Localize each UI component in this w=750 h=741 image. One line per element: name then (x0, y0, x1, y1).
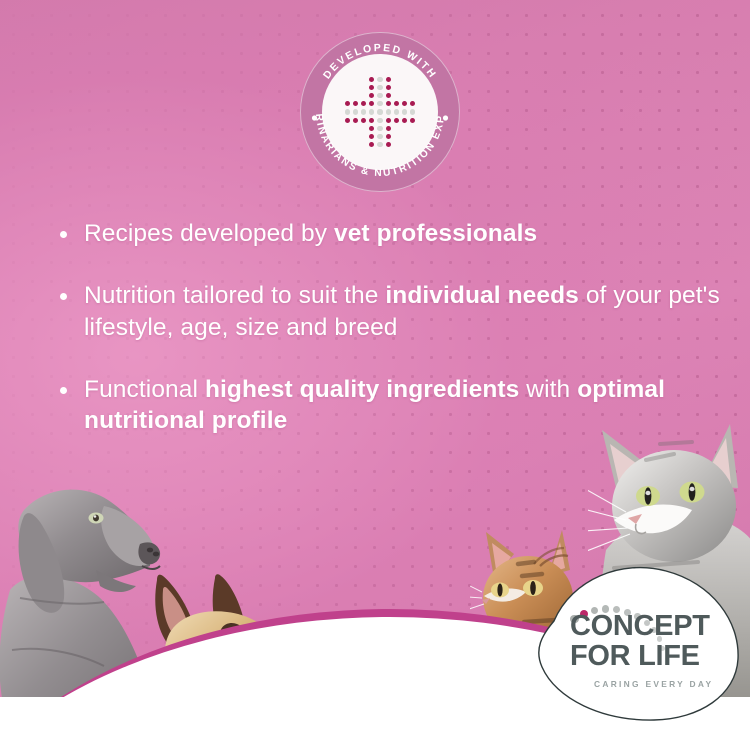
cross-dot (353, 101, 358, 106)
cross-dot (386, 85, 391, 90)
list-item: Nutrition tailored to suit the individua… (60, 280, 720, 344)
cross-dot (369, 77, 374, 82)
cross-dot (377, 142, 382, 147)
cross-dot (369, 134, 374, 139)
concept-for-life-logo[interactable]: CONCEPT FOR LIFE CARING EVERY DAY (516, 563, 742, 723)
cross-dot (377, 109, 382, 114)
cross-dot (345, 109, 350, 114)
cross-dot (361, 101, 366, 106)
bullet-plain: Recipes developed by (84, 220, 334, 247)
cross-dot (377, 93, 382, 98)
cross-dot (377, 134, 382, 139)
bullet-dot-icon (60, 293, 67, 300)
cross-dot (369, 142, 374, 147)
bullet-emphasis: vet professionals (334, 220, 537, 247)
cross-dot (369, 85, 374, 90)
cross-dot (369, 93, 374, 98)
cross-dot (369, 101, 374, 106)
bullet-plain: with (519, 376, 577, 403)
cross-dot (402, 118, 407, 123)
logo-wordmark: CONCEPT FOR LIFE CARING EVERY DAY (570, 611, 740, 689)
developed-with-vets-seal: DEVELOPED WITH VETERINARIANS & NUTRITION… (300, 32, 460, 192)
bullet-emphasis: highest quality ingredients (205, 376, 519, 403)
cross-dot (353, 118, 358, 123)
cross-dot (377, 77, 382, 82)
cross-dot (377, 101, 382, 106)
logo-line-1: CONCEPT (570, 611, 740, 641)
logo-line-2: FOR LIFE (570, 641, 740, 671)
bullet-emphasis: individual needs (385, 282, 579, 309)
seal-bullet-right-icon (443, 115, 448, 120)
cross-dot (386, 77, 391, 82)
cross-dot (377, 126, 382, 131)
seal-bullet-left-icon (312, 115, 317, 120)
cross-dot (410, 109, 415, 114)
cross-dot (386, 142, 391, 147)
cross-dot (402, 109, 407, 114)
cross-dot (369, 109, 374, 114)
cross-dot (386, 118, 391, 123)
cross-dot (361, 109, 366, 114)
bullet-text-2: Nutrition tailored to suit the individua… (84, 280, 720, 344)
cross-dot (369, 118, 374, 123)
cross-dot (353, 109, 358, 114)
logo-tagline: CARING EVERY DAY (594, 679, 740, 689)
cross-dot (386, 109, 391, 114)
cross-dot (386, 126, 391, 131)
bullet-plain: Nutrition tailored to suit the (84, 282, 385, 309)
bullet-plain: Functional (84, 376, 205, 403)
cross-dot (377, 118, 382, 123)
cross-dot (394, 101, 399, 106)
cross-dot (402, 101, 407, 106)
cross-dot (410, 118, 415, 123)
cross-dot (386, 134, 391, 139)
bullet-text-1: Recipes developed by vet professionals (84, 218, 537, 250)
cross-dot (394, 109, 399, 114)
cross-dot (345, 101, 350, 106)
promo-banner: DEVELOPED WITH VETERINARIANS & NUTRITION… (0, 0, 750, 741)
cross-dot (410, 101, 415, 106)
list-item: Recipes developed by vet professionals (60, 218, 720, 250)
cross-dot (394, 118, 399, 123)
cross-dot (369, 126, 374, 131)
cross-dot (345, 118, 350, 123)
bullet-dot-icon (60, 231, 67, 238)
cross-dot (377, 85, 382, 90)
cross-dot (386, 93, 391, 98)
dotted-cross-icon (343, 75, 417, 149)
cross-dot (361, 118, 366, 123)
cross-dot (386, 101, 391, 106)
bullet-dot-icon (60, 387, 67, 394)
